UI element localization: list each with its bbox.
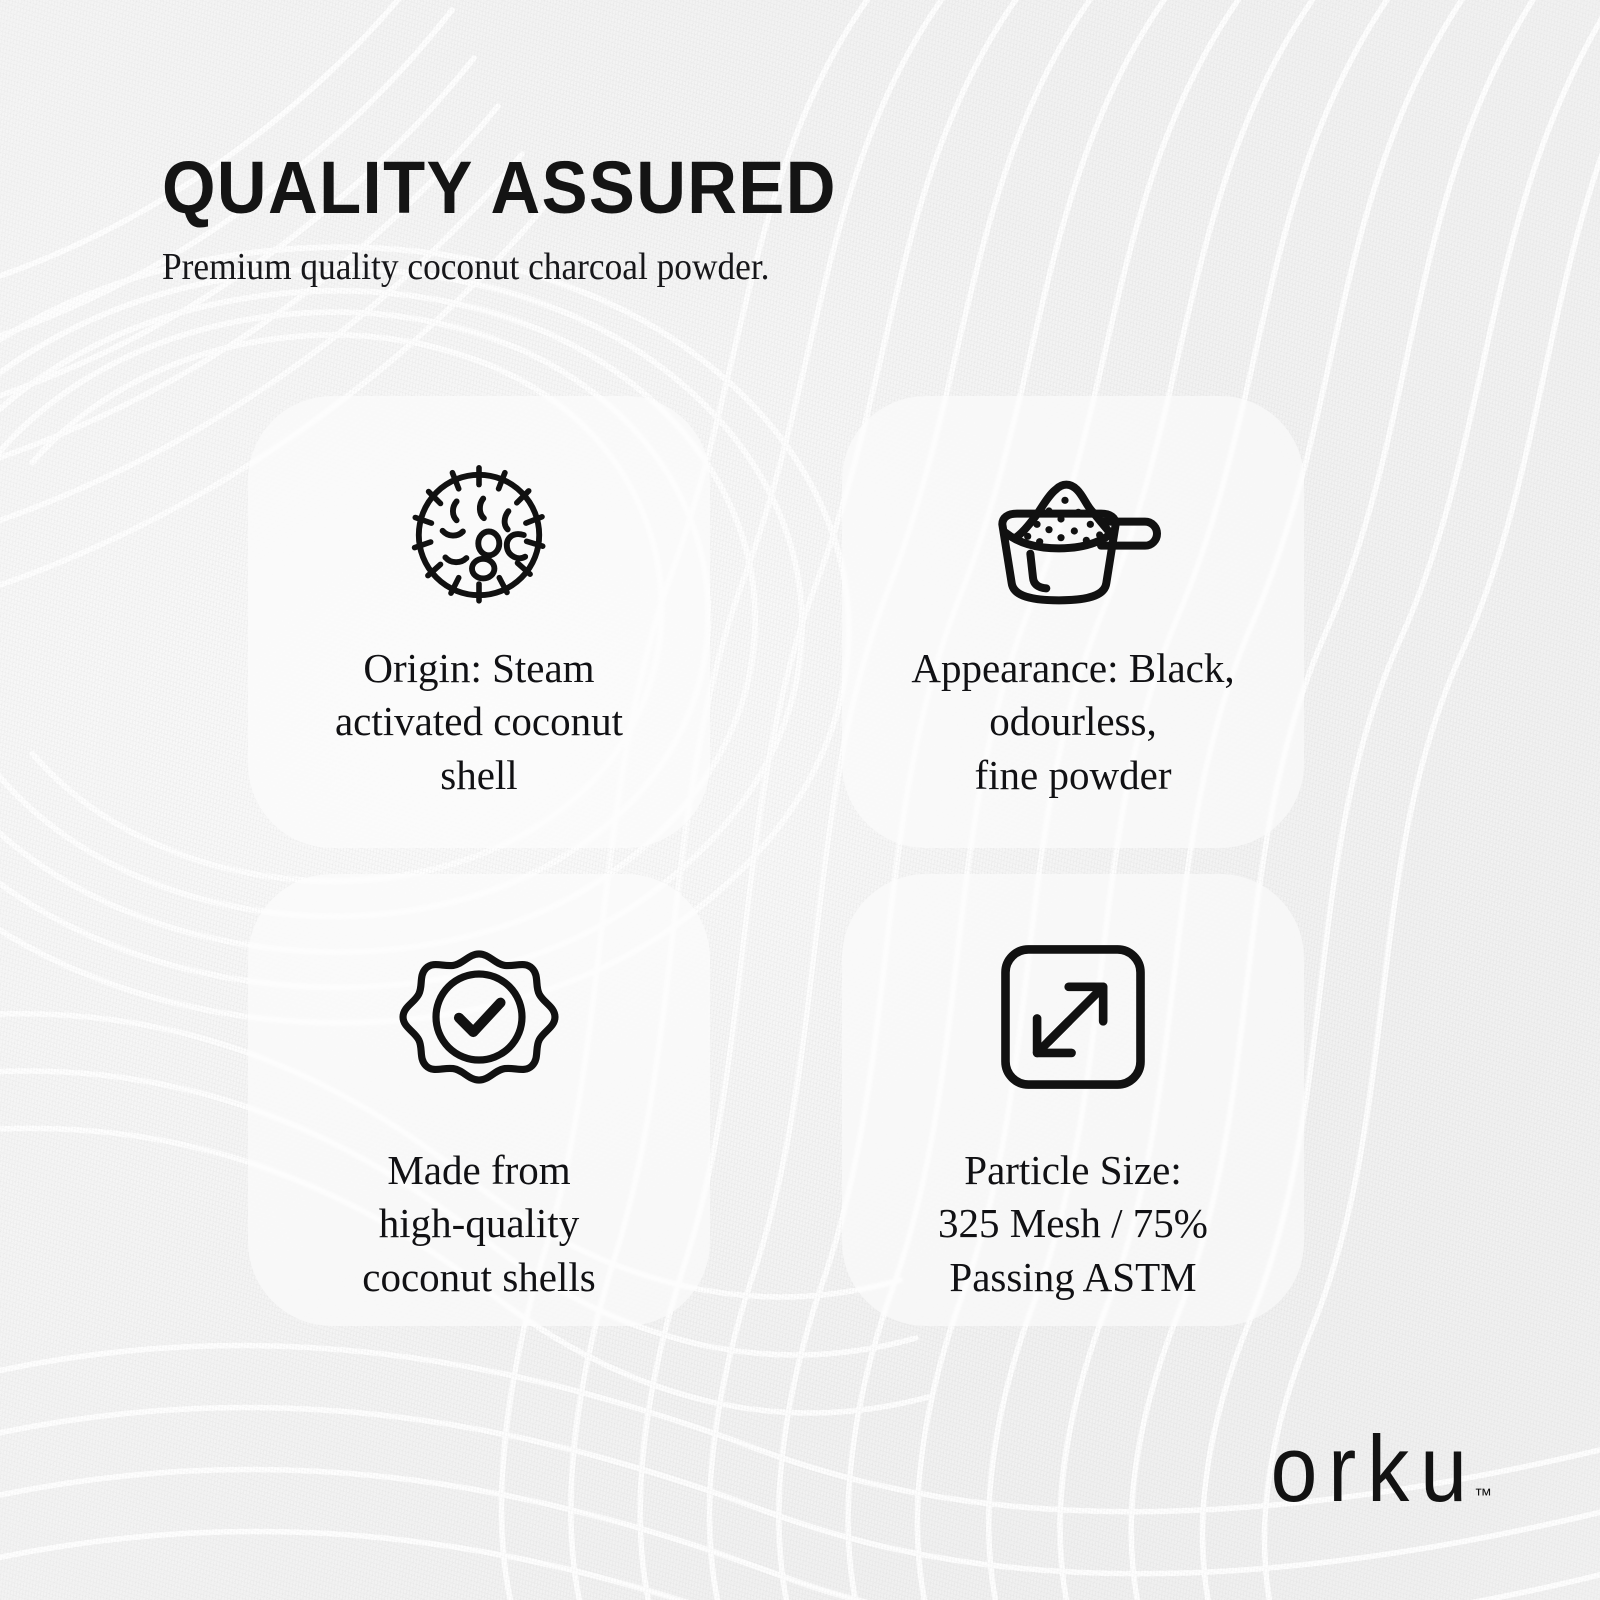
brand-wordmark: orku	[1271, 1427, 1478, 1512]
feature-text-appearance: Appearance: Black, odourless, fine powde…	[897, 642, 1248, 802]
feature-text-particle: Particle Size: 325 Mesh / 75% Passing AS…	[924, 1144, 1222, 1304]
resize-arrows-square-icon	[994, 928, 1152, 1106]
verified-badge-check-icon	[393, 928, 565, 1106]
page-title: QUALITY ASSURED	[162, 150, 1278, 225]
feature-card-origin: Origin: Steam activated coconut shell	[248, 396, 710, 848]
feature-grid: Origin: Steam activated coconut shell	[248, 396, 1304, 1326]
feature-card-appearance: Appearance: Black, odourless, fine powde…	[842, 396, 1304, 848]
powder-scoop-icon	[973, 450, 1173, 620]
coconut-particle-icon	[395, 450, 563, 620]
page-subtitle: Premium quality coconut charcoal powder.	[162, 247, 1278, 289]
feature-text-origin: Origin: Steam activated coconut shell	[321, 642, 637, 802]
feature-card-particle: Particle Size: 325 Mesh / 75% Passing AS…	[842, 874, 1304, 1326]
feature-text-quality: Made from high-quality coconut shells	[348, 1144, 609, 1304]
infographic-canvas: QUALITY ASSURED Premium quality coconut …	[0, 0, 1600, 1600]
feature-card-quality: Made from high-quality coconut shells	[248, 874, 710, 1326]
header: QUALITY ASSURED Premium quality coconut …	[162, 150, 1362, 289]
brand-logo: orku ™	[1271, 1436, 1492, 1512]
